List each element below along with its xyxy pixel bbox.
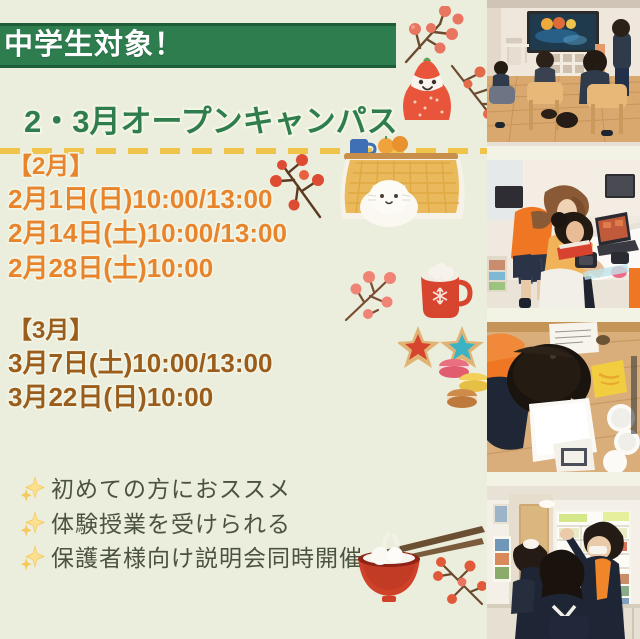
schedule-row: 2月14日(土)10:00/13:00: [8, 216, 287, 250]
schedule-block-february: 【2月】 2月1日(日)10:00/13:00 2月14日(土)10:00/13…: [8, 152, 287, 285]
chopsticks-icon: [382, 524, 486, 566]
macaron-stack-icon: [438, 358, 487, 410]
hot-cocoa-mug-icon: [413, 258, 475, 322]
target-audience-label: 中学生対象！: [0, 31, 184, 60]
schedule-row: 3月22日(日)10:00: [8, 380, 272, 414]
content-panel: 中学生対象！ 2・3月オープンキャンパス 【2月】 2月1日(日)10:00/1…: [0, 0, 487, 639]
feature-list: 初めての方におススメ 体験授業を受けられる: [20, 473, 363, 577]
rice-bowl-with-mochi-icon: [352, 528, 426, 604]
photo-hands-on-workshop: [487, 160, 640, 308]
schedule-heading: 【2月】: [8, 152, 287, 182]
sparkle-icon: [20, 475, 46, 503]
schedule-row: 2月1日(日)10:00/13:00: [8, 182, 287, 216]
list-item: 初めての方におススメ: [20, 473, 363, 506]
pink-berry-branch-mug-icon: [340, 266, 406, 324]
page-title: 2・3月オープンキャンパス: [24, 96, 398, 141]
red-berry-branch-right-icon: [448, 58, 487, 120]
photo-column: [487, 0, 640, 639]
photo-campus-tour-board: [487, 486, 640, 639]
schedule-row: 3月7日(土)10:00/13:00: [8, 346, 272, 380]
photo-presentation-room: [487, 0, 640, 146]
red-berry-branch-top-right-icon: [400, 6, 472, 68]
target-audience-banner: 中学生対象！: [0, 23, 396, 68]
list-item: 保護者様向け説明会同時開催: [20, 542, 363, 575]
star-cookies-icon: [398, 324, 486, 372]
list-item-label: 初めての方におススメ: [51, 473, 291, 506]
photo-student-writing: [487, 322, 640, 472]
schedule-heading: 【3月】: [8, 316, 272, 346]
list-item: 体験授業を受けられる: [20, 508, 363, 541]
schedule-block-march: 【3月】 3月7日(土)10:00/13:00 3月22日(日)10:00: [8, 316, 272, 415]
poster-canvas: 中学生対象！ 2・3月オープンキャンパス 【2月】 2月1日(日)10:00/1…: [0, 0, 640, 639]
sparkle-icon: [20, 544, 46, 572]
strawberry-daifuku-character-icon: [397, 50, 457, 122]
list-item-label: 体験授業を受けられる: [51, 508, 291, 541]
schedule-row: 2月28日(土)10:00: [8, 251, 287, 285]
list-item-label: 保護者様向け説明会同時開催: [51, 542, 363, 575]
sparkle-icon: [20, 510, 46, 538]
red-berry-branch-bowl-icon: [428, 552, 486, 608]
